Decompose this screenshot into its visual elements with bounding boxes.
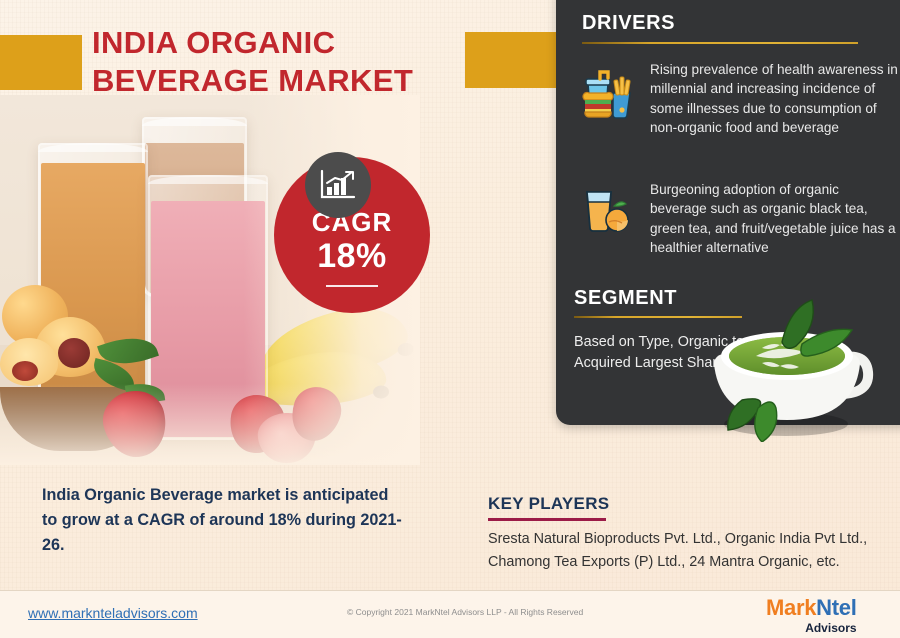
summary-text: India Organic Beverage market is anticip… bbox=[42, 483, 402, 557]
green-tea-cup-image bbox=[690, 292, 890, 442]
accent-bar-left bbox=[0, 35, 82, 90]
drivers-heading: DRIVERS bbox=[582, 12, 675, 35]
driver-item-2: Burgeoning adoption of organic beverage … bbox=[580, 180, 898, 257]
key-players-heading: KEY PLAYERS bbox=[488, 494, 609, 514]
logo-mark-part: Mark bbox=[766, 595, 816, 620]
page-title-line-1: INDIA ORGANIC bbox=[92, 24, 472, 62]
fast-food-icon bbox=[580, 60, 636, 137]
accent-bar-right bbox=[465, 32, 560, 88]
growth-chart-icon bbox=[305, 152, 371, 218]
footer-divider bbox=[0, 590, 900, 591]
drivers-underline bbox=[582, 42, 858, 44]
driver-item-1: Rising prevalence of health awareness in… bbox=[580, 60, 898, 137]
page-title: INDIA ORGANIC BEVERAGE MARKET bbox=[92, 24, 472, 100]
driver-text-1: Rising prevalence of health awareness in… bbox=[650, 60, 898, 137]
markntel-logo: MarkNtel Advisors bbox=[766, 597, 857, 634]
cagr-divider bbox=[326, 285, 378, 287]
key-players-text: Sresta Natural Bioproducts Pvt. Ltd., Or… bbox=[488, 528, 888, 574]
key-players-underline bbox=[488, 518, 606, 521]
juice-glass-orange-icon bbox=[580, 180, 636, 257]
logo-ntel-part: Ntel bbox=[816, 595, 856, 620]
logo-subtitle: Advisors bbox=[766, 622, 857, 634]
segment-heading: SEGMENT bbox=[574, 287, 677, 310]
driver-text-2: Burgeoning adoption of organic beverage … bbox=[650, 180, 898, 257]
website-link[interactable]: www.marknteladvisors.com bbox=[28, 605, 198, 621]
page-title-line-2: BEVERAGE MARKET bbox=[92, 62, 472, 100]
cagr-value: 18% bbox=[274, 237, 430, 276]
infographic-canvas: INDIA ORGANIC BEVERAGE MARKET CAGR 18% D… bbox=[0, 0, 900, 638]
copyright-text: © Copyright 2021 MarkNtel Advisors LLP -… bbox=[347, 607, 583, 617]
logo-wordmark: MarkNtel bbox=[766, 597, 857, 619]
